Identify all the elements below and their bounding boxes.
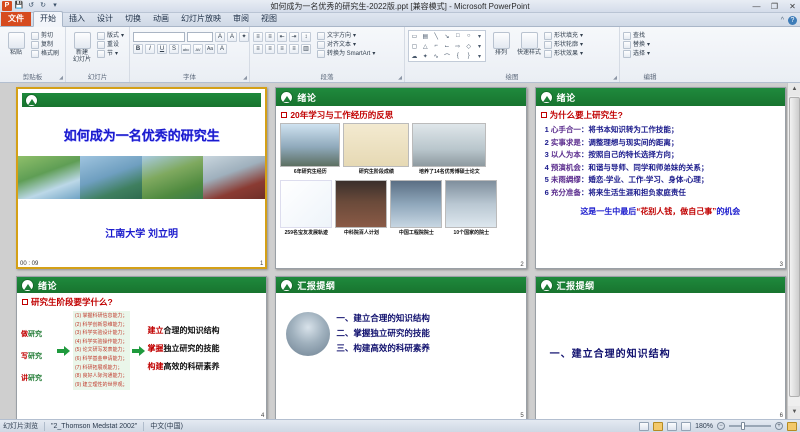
new-slide-icon <box>74 32 91 49</box>
shape-triangle-icon[interactable]: △ <box>420 41 431 51</box>
certificate-photo <box>343 123 409 167</box>
ribbon-group-slides: 新建 幻灯片 版式▾ 重设 节▾ 幻灯 <box>66 27 130 82</box>
shape-oval-icon[interactable]: ○ <box>463 31 474 41</box>
format-painter-button[interactable]: 格式刷 <box>31 50 59 58</box>
cursor-icon <box>623 50 631 58</box>
clipboard-group-label: 剪贴板 <box>3 74 62 82</box>
slide4-left-3: 讲研究 <box>21 373 55 383</box>
help-icon[interactable]: ? <box>788 16 797 25</box>
shape-roundrect-icon[interactable]: ▢ <box>409 41 420 51</box>
clear-formatting-icon[interactable]: ✦ <box>239 32 249 42</box>
university-logo <box>21 279 34 292</box>
slide5-header: 汇报提纲 <box>276 277 525 293</box>
slide4-bullet-text: 研究生阶段要学什么? <box>31 296 113 308</box>
square-bullet-icon <box>281 112 287 118</box>
lab-photo <box>412 123 486 167</box>
slide2-item-7: 10个国家的院士 <box>445 180 497 236</box>
app-menu-icon[interactable]: P <box>2 1 12 11</box>
ribbon-group-clipboard: 粘贴 剪切 复制 格式刷 剪贴板 <box>0 27 66 82</box>
tab-view[interactable]: 视图 <box>255 12 283 26</box>
align-left-button[interactable]: ≡ <box>253 44 263 54</box>
arrange-icon <box>493 32 510 49</box>
foreign-academician-photo <box>445 180 497 228</box>
slide2-caption-7: 10个国家的院士 <box>454 229 490 236</box>
slide-sorter-icon[interactable] <box>653 422 663 431</box>
bullets-button[interactable]: ≡ <box>253 32 263 42</box>
align-text-button[interactable]: 对齐文本▾ <box>317 41 375 49</box>
slide2-number: 2 <box>520 262 523 268</box>
layout-button[interactable]: 版式▾ <box>97 32 124 40</box>
slide4-header: 绪论 <box>17 277 266 293</box>
layout-icon <box>97 32 105 40</box>
font-dialog-launcher[interactable]: ◢ <box>243 75 247 81</box>
undo-icon[interactable]: ↺ <box>26 1 36 11</box>
change-case-button[interactable]: Aa <box>205 44 215 54</box>
numbering-button[interactable]: ≡ <box>265 32 275 42</box>
slide2-caption-3: 培养了14名优秀博硕士论文 <box>419 168 480 175</box>
slide6-header-title: 汇报提纲 <box>557 279 595 292</box>
copy-icon <box>31 41 39 49</box>
theme-name-label: "2_Thomson Medstat 2002" <box>51 423 137 430</box>
slide-5[interactable]: 汇报提纲 一、建立合理的知识结构 二、掌握独立研究的技能 三、构建高效的科研素养… <box>275 276 526 419</box>
square-bullet-icon <box>22 299 28 305</box>
arrow-right-icon-2 <box>132 346 146 356</box>
window-title: 如何成为一名优秀的研究生-2022版.ppt [兼容模式] - Microsof… <box>0 1 800 12</box>
convert-smartart-button[interactable]: 转换为 SmartArt▾ <box>317 50 375 58</box>
slide-6[interactable]: 汇报提纲 一、建立合理的知识结构 6 <box>535 276 786 419</box>
slide3-item-4: 4 预演机会：和谐与导师、同学和师弟妹的关系； <box>545 162 780 175</box>
tab-animations[interactable]: 动画 <box>147 12 175 26</box>
shape-gallery-more-icon[interactable]: ▾ <box>474 51 485 61</box>
ribbon-group-font: A A ✦ B I U S abc AV Aa A <box>130 27 250 82</box>
campus-gate-photo <box>286 312 330 356</box>
shape-elbow2-icon[interactable]: ⌙ <box>442 41 453 51</box>
slide-thumb-2[interactable]: 绪论 20年学习与工作经历的反思 6年研究生经历 研究生阶段成绩 <box>275 87 526 269</box>
slide4-left-1: 做研究 <box>21 329 55 339</box>
scroll-down-icon[interactable]: ▼ <box>788 406 800 419</box>
slide2-row-2: 259名宝友发展轨迹 中科院百人计划 中国工程院院士 10个国家的院士 <box>276 178 525 236</box>
section-icon <box>97 50 105 58</box>
paragraph-group-label: 段落 <box>253 74 401 82</box>
shape-line-icon[interactable]: ╲ <box>431 31 442 41</box>
slideshow-icon[interactable] <box>681 422 691 431</box>
text-direction-icon <box>317 32 325 40</box>
slide4-right-2: 掌握独立研究的技能 <box>148 343 220 354</box>
shape-outline-button[interactable]: 形状轮廓▾ <box>544 41 583 49</box>
ribbon: 粘贴 剪切 复制 格式刷 剪贴板 <box>0 27 800 83</box>
slide2-header: 绪论 <box>276 88 525 106</box>
paragraph-dialog-launcher[interactable]: ◢ <box>398 75 402 81</box>
paste-label: 粘贴 <box>10 50 22 57</box>
arrow-right-icon-1 <box>57 346 71 356</box>
slide2-bullet-head: 20年学习与工作经历的反思 <box>276 106 525 121</box>
select-button[interactable]: 选择▾ <box>623 50 650 58</box>
shapes-gallery[interactable]: ▭▤ ╲↘ □○▾ ▢△ ⌐⌙ ⇨◇▾ ☁✦ ∿⌒ {}▾ <box>408 30 486 62</box>
photo-3 <box>142 156 204 199</box>
slide-3[interactable]: 绪论 为什么要上研究生? 1 心手合一：将书本知识转为工作技能； 2 实事求是：… <box>535 87 786 269</box>
slide5-item-1: 一、建立合理的知识结构 <box>336 311 430 326</box>
slide-1[interactable]: 如何成为一名优秀的研究生 江南大学 刘立明 00 : 09 1 <box>16 87 267 269</box>
paste-icon <box>8 32 25 49</box>
slide2-item-4: 259名宝友发展轨迹 <box>280 180 332 236</box>
binoculars-icon <box>623 32 631 40</box>
paintbrush-icon <box>31 50 39 58</box>
tab-design[interactable]: 设计 <box>91 12 119 26</box>
slide3-item-6: 6 充分准备：将来生活生涯和担负家庭责任 <box>545 187 780 200</box>
slide5-outline-list: 一、建立合理的知识结构 二、掌握独立研究的技能 三、构建高效的科研素养 <box>336 311 430 356</box>
shape-star-icon[interactable]: ✦ <box>420 51 431 61</box>
slide4-bullet-head: 研究生阶段要学什么? <box>17 293 266 308</box>
slide2-header-title: 绪论 <box>297 91 316 104</box>
slide5-item-2: 二、掌握独立研究的技能 <box>336 326 430 341</box>
new-slide-button[interactable]: 新建 幻灯片 <box>69 30 95 64</box>
slide2-caption-4: 259名宝友发展轨迹 <box>285 229 328 236</box>
slide-sorter-workspace[interactable]: 如何成为一名优秀的研究生 江南大学 刘立明 00 : 09 1 <box>0 83 800 419</box>
ribbon-tabs[interactable]: 文件 开始 插入 设计 切换 动画 幻灯片放映 审阅 视图 ^ ? <box>0 13 800 27</box>
slide4-mid-6: (6) 科学基金申请能力； <box>75 355 128 364</box>
shrink-font-icon[interactable]: A <box>227 32 237 42</box>
slide-thumb-1[interactable]: 如何成为一名优秀的研究生 江南大学 刘立明 00 : 09 1 <box>16 87 267 269</box>
photo-1 <box>18 156 80 199</box>
status-bar: 幻灯片浏览 "2_Thomson Medstat 2002" 中文(中国) 18… <box>0 419 800 432</box>
slide2-item-2: 研究生阶段成绩 <box>343 123 409 175</box>
speaker-photo <box>335 180 387 228</box>
collapse-ribbon-icon[interactable]: ^ <box>781 17 784 24</box>
minimize-button[interactable]: — <box>751 2 762 11</box>
slide-thumb-6[interactable]: 汇报提纲 一、建立合理的知识结构 6 <box>535 276 786 419</box>
scroll-up-icon[interactable]: ▲ <box>788 83 800 96</box>
slide2-caption-1: 6年研究生经历 <box>294 168 327 175</box>
replace-button[interactable]: 替换▾ <box>623 41 650 49</box>
font-color-button[interactable]: A <box>217 44 227 54</box>
slide3-footer: 这是一生中最后“花别人钱，做自己事”的机会 <box>536 206 785 217</box>
slide4-mid-9: (9) 建立理性的世界观； <box>75 381 128 390</box>
slide4-mid-2: (2) 科学创新思维能力； <box>75 321 128 330</box>
paste-button[interactable]: 粘贴 <box>3 30 29 57</box>
slide1-timing: 00 : 09 <box>20 261 38 267</box>
slide4-mid-8: (8) 良好人际沟通能力； <box>75 372 128 381</box>
slide4-mid-3: (3) 科学实验设计能力； <box>75 329 128 338</box>
tab-transitions[interactable]: 切换 <box>119 12 147 26</box>
font-size-combo[interactable] <box>187 32 213 42</box>
decrease-indent-button[interactable]: ⇤ <box>277 32 287 42</box>
copy-button[interactable]: 复制 <box>31 41 59 49</box>
shape-cloud-icon[interactable]: ☁ <box>409 51 420 61</box>
slide4-mid-4: (4) 科学实验操作能力； <box>75 338 128 347</box>
italic-button[interactable]: I <box>145 44 155 54</box>
slide2-caption-5: 中科院百人计划 <box>344 229 379 236</box>
font-group-label: 字体 <box>133 74 246 82</box>
line-spacing-button[interactable]: ↕ <box>301 32 311 42</box>
increase-indent-button[interactable]: ⇥ <box>289 32 299 42</box>
trajectory-chart <box>280 180 332 228</box>
slide2-item-6: 中国工程院院士 <box>390 180 442 236</box>
slide-grid: 如何成为一名优秀的研究生 江南大学 刘立明 00 : 09 1 <box>16 87 786 419</box>
smartart-icon <box>317 50 325 58</box>
tab-slideshow[interactable]: 幻灯片放映 <box>175 12 227 26</box>
academician-photo <box>390 180 442 228</box>
slide5-header-title: 汇报提纲 <box>297 279 335 292</box>
cut-button[interactable]: 剪切 <box>31 32 59 40</box>
zoom-slider-knob[interactable] <box>741 422 745 430</box>
section-button[interactable]: 节▾ <box>97 50 124 58</box>
slide5-body: 一、建立合理的知识结构 二、掌握独立研究的技能 三、构建高效的科研素养 <box>276 293 525 356</box>
reset-button[interactable]: 重设 <box>97 41 124 49</box>
drawing-group-label: 绘图 <box>408 74 616 82</box>
slide4-right-column: 建立合理的知识结构 掌握独立研究的技能 构建高效的科研素养 <box>148 311 220 372</box>
slide4-right-3: 构建高效的科研素养 <box>148 361 220 372</box>
slide2-caption-2: 研究生阶段成绩 <box>359 168 394 175</box>
slide4-mid-5: (5) 论文研写发表能力； <box>75 346 128 355</box>
slide4-number: 4 <box>261 413 264 419</box>
close-button[interactable]: ✕ <box>787 2 798 11</box>
shape-outline-icon <box>544 41 552 49</box>
slide6-number: 6 <box>780 413 783 419</box>
arrange-button[interactable]: 排列 <box>488 30 514 57</box>
slide2-item-1: 6年研究生经历 <box>280 123 340 175</box>
university-logo <box>540 91 553 104</box>
justify-button[interactable]: ≡ <box>289 44 299 54</box>
slide2-item-3: 培养了14名优秀博硕士论文 <box>412 123 486 175</box>
slide2-bullet-text: 20年学习与工作经历的反思 <box>290 109 393 121</box>
slide-thumb-5[interactable]: 汇报提纲 一、建立合理的知识结构 二、掌握独立研究的技能 三、构建高效的科研素养… <box>275 276 526 419</box>
reading-view-icon[interactable] <box>667 422 677 431</box>
shape-brace2-icon[interactable]: } <box>463 51 474 61</box>
shape-fill-icon <box>544 32 552 40</box>
shape-more-icon[interactable]: ▾ <box>474 31 485 41</box>
character-spacing-button[interactable]: AV <box>193 44 203 54</box>
shape-diamond-icon[interactable]: ◇ <box>463 41 474 51</box>
grow-font-icon[interactable]: A <box>215 32 225 42</box>
normal-view-icon[interactable] <box>639 422 649 431</box>
photo-2 <box>80 156 142 199</box>
slide3-bullet-text: 为什么要上研究生? <box>550 109 623 121</box>
window-controls[interactable]: — ❐ ✕ <box>751 0 798 13</box>
shape-textbox-icon[interactable]: ▤ <box>420 31 431 41</box>
slide-thumb-3[interactable]: 绪论 为什么要上研究生? 1 心手合一：将书本知识转为工作技能； 2 实事求是：… <box>535 87 786 269</box>
view-name-label: 幻灯片浏览 <box>3 421 38 431</box>
shape-scroll-icon[interactable]: ▾ <box>474 41 485 51</box>
slide6-header: 汇报提纲 <box>536 277 785 293</box>
quick-styles-icon <box>521 32 538 49</box>
reset-icon <box>97 41 105 49</box>
slide2-item-5: 中科院百人计划 <box>335 180 387 236</box>
quick-access-toolbar[interactable]: P 💾 ↺ ↻ ▾ <box>0 1 60 11</box>
tab-file[interactable]: 文件 <box>1 12 31 26</box>
status-divider <box>44 422 45 431</box>
font-name-combo[interactable] <box>133 32 185 42</box>
align-right-button[interactable]: ≡ <box>277 44 287 54</box>
slide-2[interactable]: 绪论 20年学习与工作经历的反思 6年研究生经历 研究生阶段成绩 <box>275 87 526 269</box>
shape-brace-icon[interactable]: { <box>452 51 463 61</box>
align-text-icon <box>317 41 325 49</box>
slide3-header: 绪论 <box>536 88 785 106</box>
tab-review[interactable]: 审阅 <box>227 12 255 26</box>
vertical-scrollbar[interactable]: ▲ ▼ <box>787 83 800 419</box>
language-label[interactable]: 中文(中国) <box>150 421 183 431</box>
ribbon-group-editing: 查找 替换▾ 选择▾ 编辑 <box>620 27 680 82</box>
slide3-item-5: 5 未雨绸缪：婚恋-学业、工作-学习、身体-心理； <box>545 174 780 187</box>
slide4-mid-7: (7) 科研拓展观能力； <box>75 364 128 373</box>
text-shadow-button[interactable]: S <box>169 44 179 54</box>
columns-button[interactable]: ▥ <box>301 44 311 54</box>
maximize-button[interactable]: ❐ <box>769 2 780 11</box>
zoom-in-button[interactable]: + <box>775 422 783 430</box>
slide5-number: 5 <box>520 413 523 419</box>
status-right-group[interactable]: 180% − + <box>639 422 797 431</box>
drawing-dialog-launcher[interactable]: ◢ <box>613 75 617 81</box>
slide1-header-band <box>22 93 261 107</box>
bold-button[interactable]: B <box>133 44 143 54</box>
shape-effects-icon <box>544 50 552 58</box>
shape-arc-icon[interactable]: ⌒ <box>442 51 453 61</box>
slide2-caption-6: 中国工程院院士 <box>399 229 434 236</box>
slide3-item-3: 3 以人为本：按照自己的特长选择方向； <box>545 149 780 162</box>
slide1-title: 如何成为一名优秀的研究生 <box>18 125 265 144</box>
shape-elbow-icon[interactable]: ⌐ <box>431 41 442 51</box>
replace-icon <box>623 41 631 49</box>
slide-4[interactable]: 绪论 研究生阶段要学什么? 做研究 写研究 讲研究 <box>16 276 267 419</box>
slide4-left-2: 写研究 <box>21 351 55 361</box>
align-center-button[interactable]: ≡ <box>265 44 275 54</box>
text-direction-button[interactable]: 文字方向▾ <box>317 32 375 40</box>
ribbon-group-paragraph: ≡ ≡ ⇤ ⇥ ↕ ≡ ≡ ≡ ≡ ▥ <box>250 27 405 82</box>
scrollbar-thumb[interactable] <box>789 97 800 397</box>
slides-group-label: 幻灯片 <box>69 74 126 82</box>
university-logo <box>280 279 293 292</box>
shape-rightarrow-icon[interactable]: ⇨ <box>452 41 463 51</box>
zoom-slider[interactable] <box>729 425 771 427</box>
slide1-number: 1 <box>260 261 263 267</box>
slide4-right-1: 建立合理的知识结构 <box>148 325 220 336</box>
slide6-body: 一、建立合理的知识结构 <box>536 293 785 360</box>
slide1-photo-strip <box>18 156 265 199</box>
slide4-header-title: 绪论 <box>38 279 57 292</box>
shape-arrow-icon[interactable]: ↘ <box>442 31 453 41</box>
clipboard-dialog-launcher[interactable]: ◢ <box>59 75 63 81</box>
customize-qat-icon[interactable]: ▾ <box>50 1 60 11</box>
tab-home[interactable]: 开始 <box>33 11 63 27</box>
university-logo <box>25 94 38 107</box>
ribbon-help-area[interactable]: ^ ? <box>781 16 797 25</box>
ribbon-group-drawing: ▭▤ ╲↘ □○▾ ▢△ ⌐⌙ ⇨◇▾ ☁✦ ∿⌒ {}▾ 排列 快速样式 <box>405 27 620 82</box>
shape-fill-button[interactable]: 形状填充▾ <box>544 32 583 40</box>
photo-4 <box>203 156 265 199</box>
square-bullet-icon <box>541 112 547 118</box>
slide3-list: 1 心手合一：将书本知识转为工作技能； 2 实事求是：调整理想与现实间的距离； … <box>536 121 785 200</box>
slide4-ability-list: (1) 掌握科研信息能力； (2) 科学创新思维能力； (3) 科学实验设计能力… <box>73 311 130 390</box>
save-icon[interactable]: 💾 <box>14 1 24 11</box>
shape-effects-button[interactable]: 形状效果▾ <box>544 50 583 58</box>
slide5-item-3: 三、构建高效的科研素养 <box>336 341 430 356</box>
slide4-left-column: 做研究 写研究 讲研究 <box>21 311 55 389</box>
shape-rect-icon[interactable]: ▭ <box>409 31 420 41</box>
slide3-number: 3 <box>780 262 783 268</box>
university-logo <box>540 279 553 292</box>
slide3-bullet-head: 为什么要上研究生? <box>536 106 785 121</box>
slide1-author: 江南大学 刘立明 <box>18 225 265 240</box>
slide3-header-title: 绪论 <box>557 91 576 104</box>
zoom-level-label: 180% <box>695 423 713 430</box>
slide2-row-1: 6年研究生经历 研究生阶段成绩 培养了14名优秀博硕士论文 <box>276 121 525 175</box>
underline-button[interactable]: U <box>157 44 167 54</box>
fit-to-window-button[interactable] <box>787 422 797 431</box>
slide-thumb-4[interactable]: 绪论 研究生阶段要学什么? 做研究 写研究 讲研究 <box>16 276 267 419</box>
shape-square-icon[interactable]: □ <box>452 31 463 41</box>
university-logo <box>280 91 293 104</box>
slide4-diagram: 做研究 写研究 讲研究 (1) 掌握科研信息能力； (2) 科学创新思维能力； … <box>17 308 266 390</box>
status-divider <box>143 422 144 431</box>
zoom-out-button[interactable]: − <box>717 422 725 430</box>
quick-styles-button[interactable]: 快速样式 <box>516 30 542 57</box>
slide6-item-1: 一、建立合理的知识结构 <box>550 345 785 360</box>
find-button[interactable]: 查找 <box>623 32 650 40</box>
slide3-item-1: 1 心手合一：将书本知识转为工作技能； <box>545 124 780 137</box>
slide3-item-2: 2 实事求是：调整理想与现实间的距离； <box>545 137 780 150</box>
editing-group-label: 编辑 <box>623 74 677 82</box>
strikethrough-button[interactable]: abc <box>181 44 191 54</box>
scissors-icon <box>31 32 39 40</box>
redo-icon[interactable]: ↻ <box>38 1 48 11</box>
powerpoint-window: P 💾 ↺ ↻ ▾ 如何成为一名优秀的研究生-2022版.ppt [兼容模式] … <box>0 0 800 432</box>
tab-insert[interactable]: 插入 <box>63 12 91 26</box>
shape-curve-icon[interactable]: ∿ <box>431 51 442 61</box>
slide4-mid-1: (1) 掌握科研信息能力； <box>75 312 128 321</box>
gate-photo <box>280 123 340 167</box>
